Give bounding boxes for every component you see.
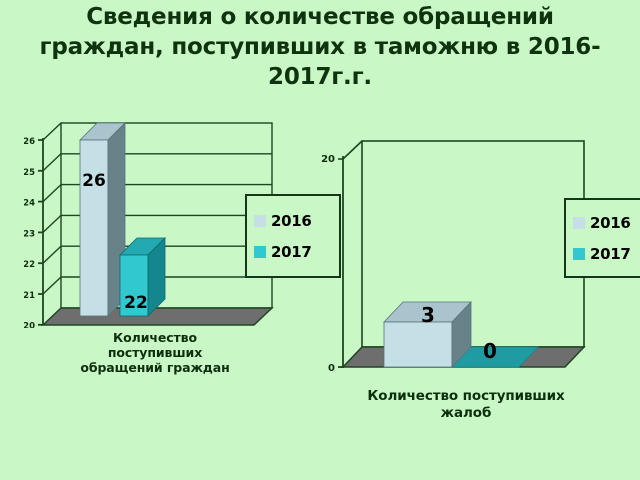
chart-left-svg: 26 25 24 23 22 21 20 26 22 xyxy=(24,118,280,328)
chart-right-axis-label-line2: жалоб xyxy=(326,405,606,422)
chart-left-axis-label-line3: обращений граждан xyxy=(52,360,258,375)
chart-left-bar-2016 xyxy=(80,123,125,316)
chart-left-datalabel-2017: 22 xyxy=(124,293,148,313)
legend-swatch-2016-icon xyxy=(254,215,266,227)
chart-right-ytick-0: 0 xyxy=(328,363,335,374)
chart-right-datalabel-2017: 0 xyxy=(483,339,497,363)
chart-right-axis-label-line1: Количество поступивших xyxy=(326,388,606,405)
legend-label-2016: 2016 xyxy=(590,214,631,232)
legend-item-2016[interactable]: 2016 xyxy=(573,214,640,232)
legend-label-2017: 2017 xyxy=(271,243,312,261)
chart-left-floor xyxy=(43,308,272,325)
chart-left-ytick-25: 25 xyxy=(24,168,35,178)
chart-left-axis-label: Количество поступивших обращений граждан xyxy=(52,330,258,375)
chart-left-depth-lines xyxy=(43,123,61,294)
chart-left-ytick-22: 22 xyxy=(24,260,35,270)
chart-left-axis-label-line2: поступивших xyxy=(52,345,258,360)
chart-right-depth-lines xyxy=(338,141,362,159)
page-title: Сведения о количестве обращений граждан,… xyxy=(24,2,616,92)
legend-swatch-2017-icon xyxy=(573,248,585,260)
chart-left-ytick-23: 23 xyxy=(24,229,35,239)
legend-label-2016: 2016 xyxy=(271,212,312,230)
chart-left-ytick-24: 24 xyxy=(24,199,35,209)
chart-right-datalabel-2016: 3 xyxy=(421,303,435,327)
chart-left-y-axis xyxy=(38,138,43,325)
chart-right-legend[interactable]: 2016 2017 xyxy=(564,198,640,278)
chart-left-ytick-21: 21 xyxy=(24,291,35,301)
chart-left-axis-label-line1: Количество xyxy=(52,330,258,345)
legend-label-2017: 2017 xyxy=(590,245,631,263)
chart-left-datalabel-2016: 26 xyxy=(82,171,106,191)
chart-left-obrashcheniya: 26 25 24 23 22 21 20 26 22 xyxy=(24,118,280,328)
legend-item-2017[interactable]: 2017 xyxy=(573,245,640,263)
chart-right-y-axis xyxy=(338,156,343,368)
slide-canvas: Сведения о количестве обращений граждан,… xyxy=(0,0,640,480)
chart-right-ytick-20: 20 xyxy=(321,154,335,165)
legend-swatch-2016-icon xyxy=(573,217,585,229)
chart-left-ytick-26: 26 xyxy=(24,137,35,147)
chart-right-axis-label: Количество поступивших жалоб xyxy=(326,388,606,422)
legend-swatch-2017-icon xyxy=(254,246,266,258)
chart-left-ytick-20: 20 xyxy=(24,322,35,329)
